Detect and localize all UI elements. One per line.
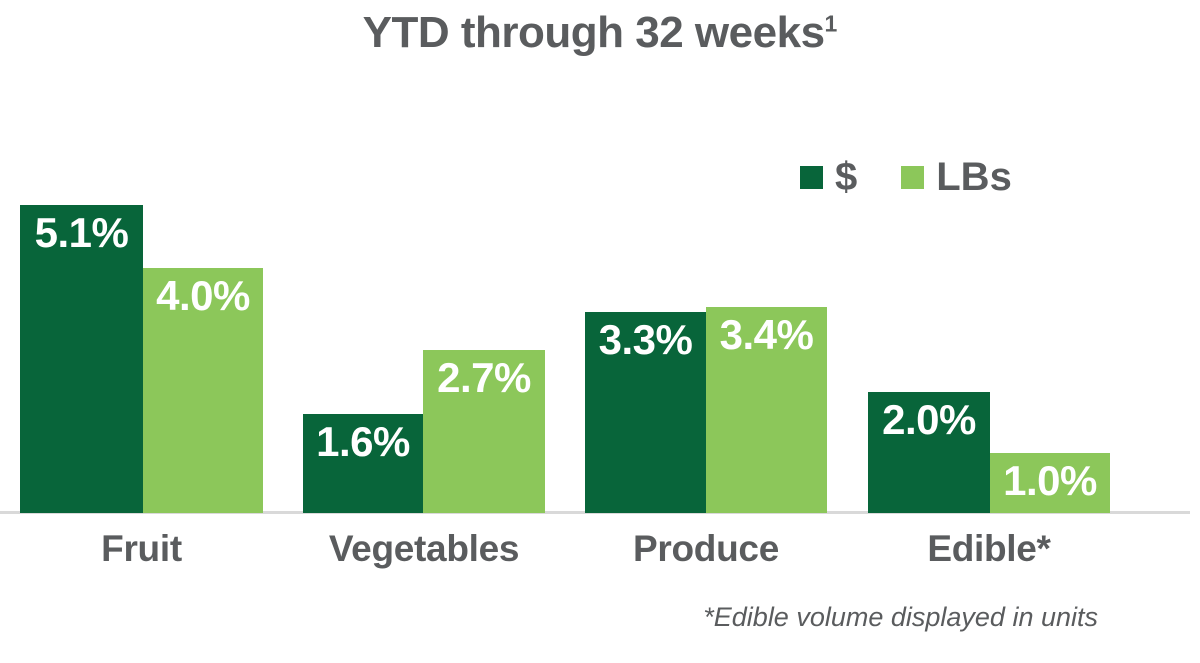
bar-value-label: 4.0%: [143, 274, 263, 318]
bar-produce-lbs[interactable]: 3.4%: [706, 307, 827, 513]
bar-value-label: 2.0%: [868, 398, 990, 442]
category-label-produce: Produce: [585, 528, 827, 570]
bar-vegetables-dollars[interactable]: 1.6%: [303, 414, 423, 513]
chart-footnote: *Edible volume displayed in units: [703, 602, 1098, 633]
bar-value-label: 1.0%: [990, 459, 1110, 503]
bar-value-label: 5.1%: [20, 211, 143, 255]
category-label-edible: Edible*: [868, 528, 1110, 570]
bar-edible-lbs[interactable]: 1.0%: [990, 453, 1110, 513]
chart-container: YTD through 32 weeks1 $ LBs 5.1% 4.0% 1.…: [0, 0, 1200, 663]
category-label-fruit: Fruit: [20, 528, 263, 570]
bar-vegetables-lbs[interactable]: 2.7%: [423, 350, 545, 513]
bar-fruit-lbs[interactable]: 4.0%: [143, 268, 263, 513]
bar-edible-dollars[interactable]: 2.0%: [868, 392, 990, 513]
bar-fruit-dollars[interactable]: 5.1%: [20, 205, 143, 513]
bar-value-label: 1.6%: [303, 420, 423, 464]
category-label-vegetables: Vegetables: [303, 528, 545, 570]
bar-value-label: 3.4%: [706, 313, 827, 357]
bar-produce-dollars[interactable]: 3.3%: [585, 312, 706, 513]
bar-value-label: 2.7%: [423, 356, 545, 400]
x-axis-category-labels: Fruit Vegetables Produce Edible*: [0, 528, 1200, 588]
plot-area: 5.1% 4.0% 1.6% 2.7% 3.3% 3.4% 2.0% 1.0%: [0, 0, 1200, 513]
bar-value-label: 3.3%: [585, 318, 706, 362]
